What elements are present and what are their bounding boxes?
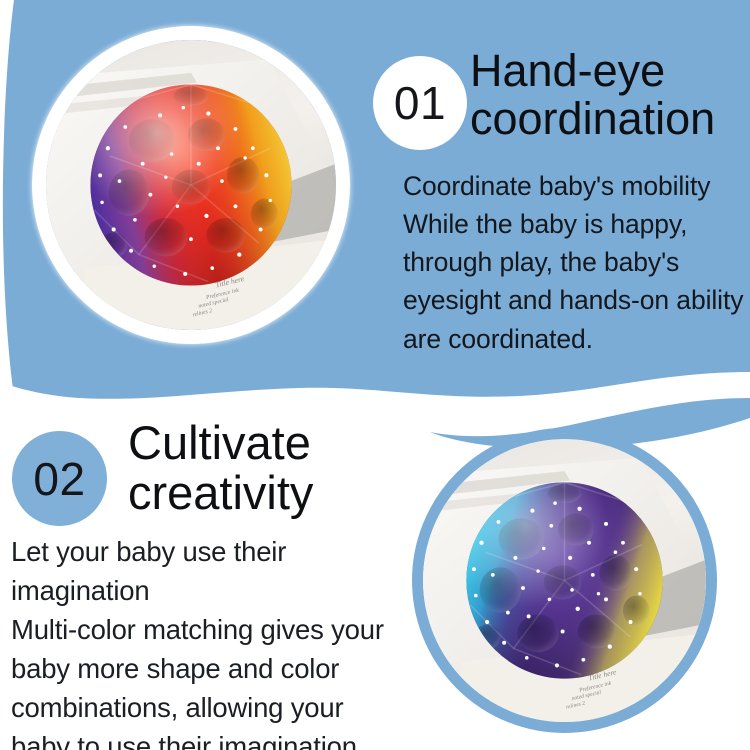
photo-inner-top: Title here Preference ink noted special … [46,40,336,330]
ball-body-bottom [466,482,662,678]
product-photo-hand-eye: Title here Preference ink noted special … [32,26,350,344]
galaxy-ball-illustration: Title here Preference ink noted special … [423,439,706,722]
section-number-badge-02: 02 [12,431,107,526]
ball-body-top [90,84,291,285]
section-body-01: Coordinate baby's mobility While the bab… [403,167,750,358]
rainbow-ball-illustration: Title here Preference ink noted special … [46,40,336,330]
section-heading-01: Hand-eye coordination [470,47,750,142]
product-photo-creativity: Title here Preference ink noted special … [412,428,717,733]
section-heading-02: Cultivate creativity [128,418,428,518]
section-body-02: Let your baby use their imagination Mult… [11,532,406,750]
infographic-root: Title here Preference ink noted special … [0,0,750,750]
section-number-badge-01: 01 [373,56,467,150]
photo-inner-bottom: Title here Preference ink noted special … [423,439,706,722]
badge-02-label: 02 [33,452,85,506]
badge-01-label: 01 [394,76,446,130]
